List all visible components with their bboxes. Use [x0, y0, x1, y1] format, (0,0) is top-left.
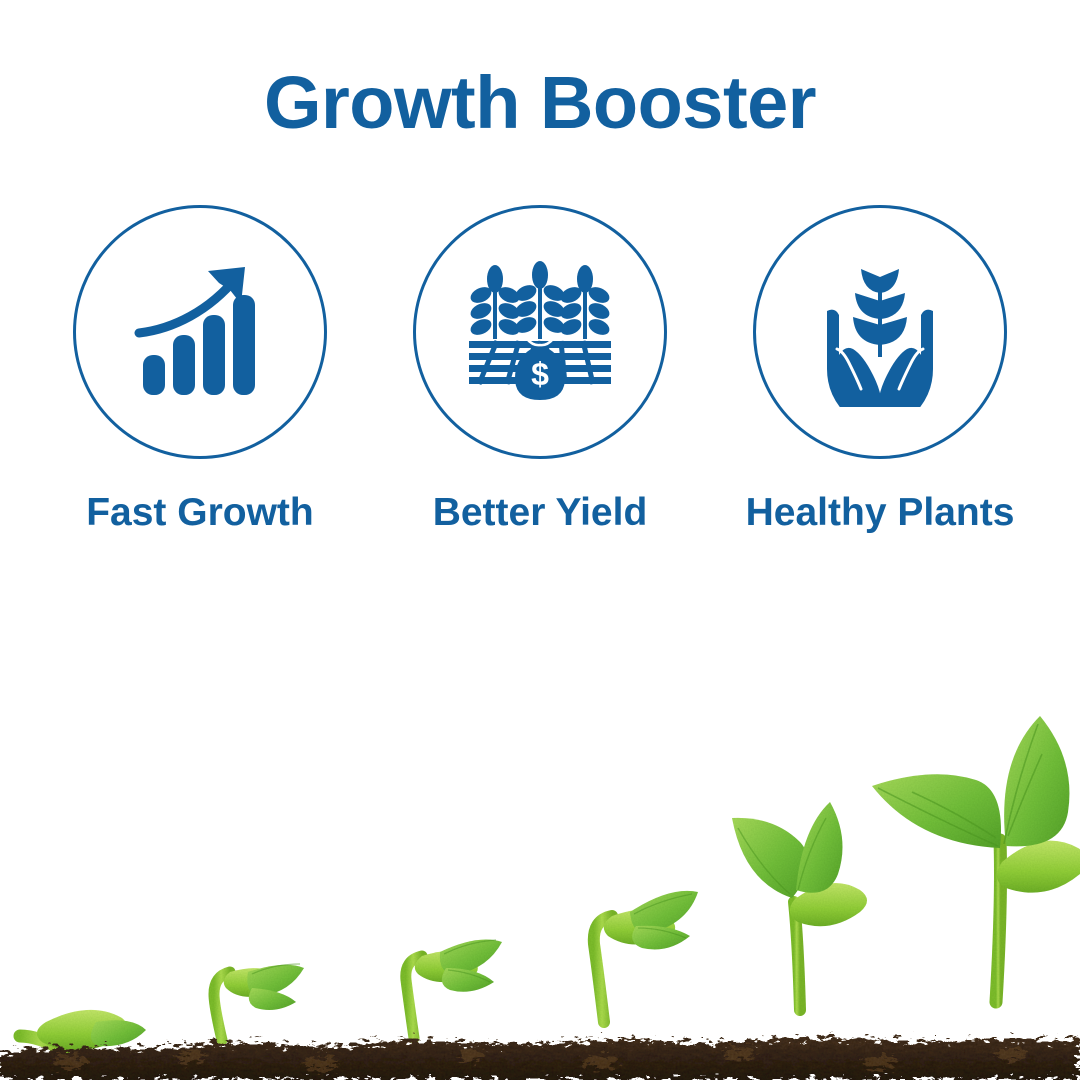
- svg-text:$: $: [531, 356, 549, 392]
- seedling-stage-2: [214, 964, 304, 1040]
- feature-icon-circle: [73, 205, 327, 459]
- plant-germination-sequence: [0, 650, 1080, 1080]
- feature-label: Fast Growth: [86, 493, 314, 532]
- feature-icon-circle: $: [413, 205, 667, 459]
- feature-list: Fast Growth: [0, 205, 1080, 532]
- seedling-stage-6: [872, 716, 1080, 1002]
- poster-canvas: Growth Booster Fas: [0, 0, 1080, 1080]
- feature-item-fast-growth[interactable]: Fast Growth: [71, 205, 329, 532]
- feature-item-healthy-plants[interactable]: Healthy Plants: [751, 205, 1009, 532]
- feature-icon-circle: [753, 205, 1007, 459]
- seedling-stage-4: [594, 891, 698, 1022]
- soil-bed: [0, 1037, 1080, 1080]
- page-title: Growth Booster: [0, 66, 1080, 140]
- feature-label: Healthy Plants: [746, 493, 1015, 532]
- seedling-stage-3: [406, 940, 502, 1038]
- seedling-stage-5: [732, 802, 867, 1010]
- growth-chart-arrow-icon: [125, 257, 275, 407]
- feature-label: Better Yield: [433, 493, 648, 532]
- feature-item-better-yield[interactable]: $ Better Yield: [411, 205, 669, 532]
- seedling-stage-1: [20, 1010, 146, 1051]
- crop-field-money-bag-icon: $: [465, 257, 615, 407]
- hands-holding-plant-icon: [805, 257, 955, 407]
